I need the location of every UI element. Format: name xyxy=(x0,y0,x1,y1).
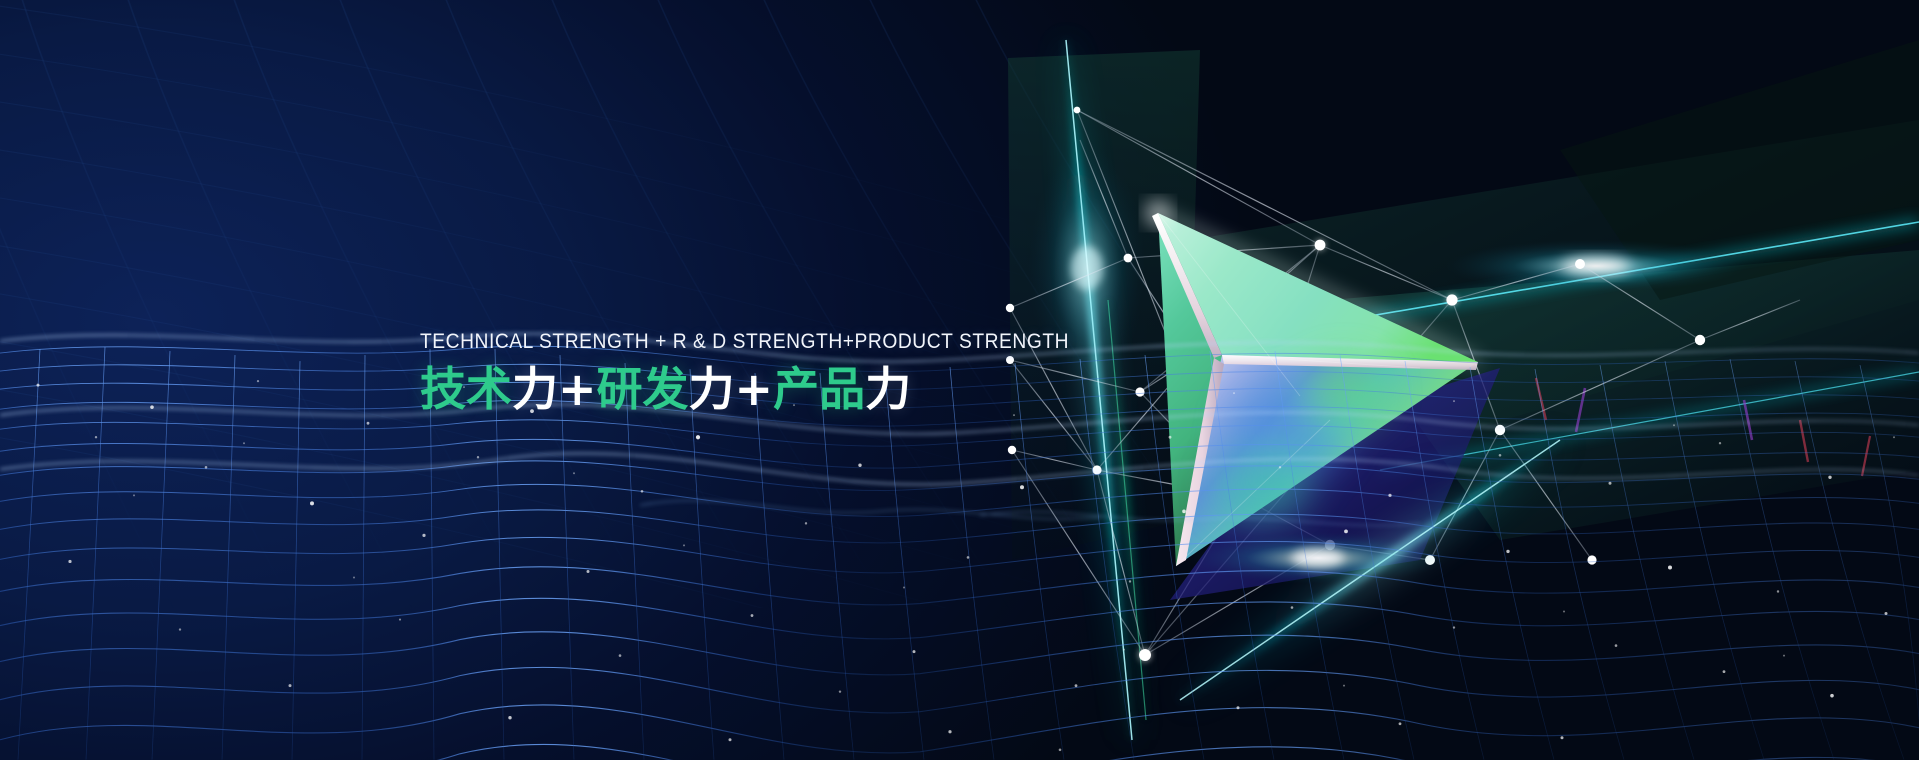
headline-seg-7: 力 xyxy=(865,362,911,416)
headline-seg-6: 产品 xyxy=(773,362,865,416)
tagline-english: TECHNICAL STRENGTH + R & D STRENGTH+PROD… xyxy=(420,331,975,353)
hero-banner: TECHNICAL STRENGTH + R & D STRENGTH+PROD… xyxy=(0,0,1919,760)
headline-seg-4: 力 xyxy=(689,362,735,416)
headline-seg-5: + xyxy=(735,362,774,416)
headline-seg-1: 力 xyxy=(512,362,558,416)
headline-seg-3: 研发 xyxy=(597,362,689,416)
headline-chinese: 技术力+研发力+产品力 xyxy=(420,365,1040,414)
headline-text-block: TECHNICAL STRENGTH + R & D STRENGTH+PROD… xyxy=(420,331,1040,413)
headline-seg-2: + xyxy=(558,362,597,416)
headline-seg-0: 技术 xyxy=(420,362,512,416)
